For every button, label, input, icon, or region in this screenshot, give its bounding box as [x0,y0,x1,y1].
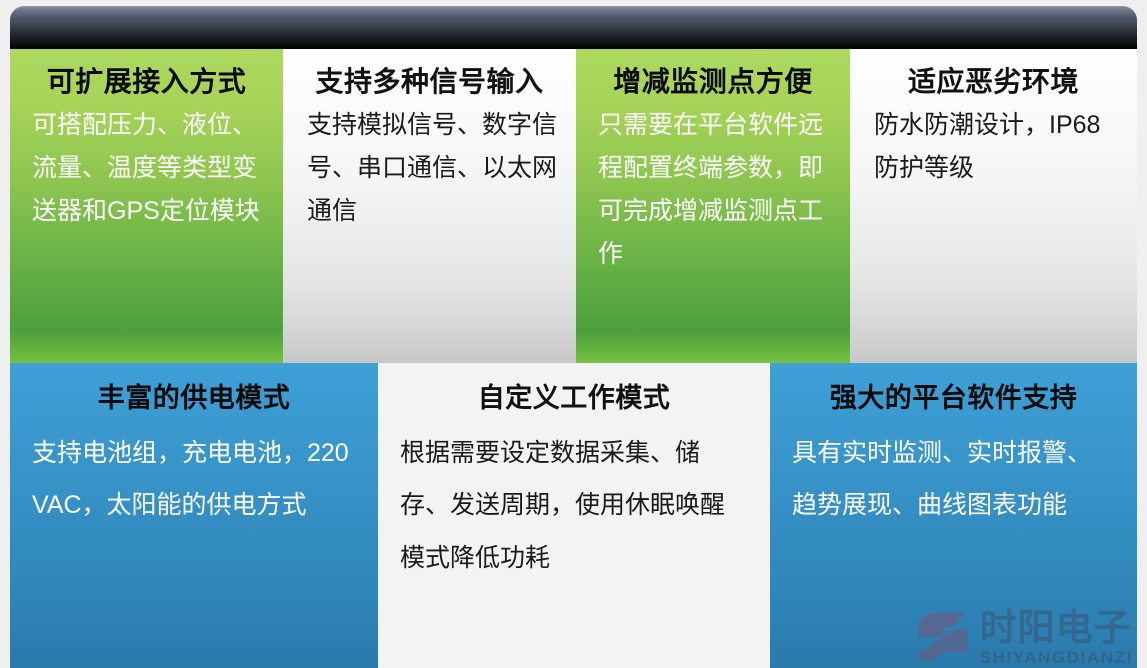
company-watermark: 时阳电子 SHIYANGDIANZI [914,608,1133,666]
feature-card-title: 可扩展接入方式 [24,65,269,98]
feature-card-body: 只需要在平台软件远程配置终端参数，即可完成增减监测点工作 [590,104,836,276]
feature-card-title: 自定义工作模式 [398,383,750,415]
feature-card-harsh-environment[interactable]: 适应恶劣环境 防水防潮设计，IP68防护等级 [850,49,1137,363]
feature-card-custom-work-mode[interactable]: 自定义工作模式 根据需要设定数据采集、储存、发送周期，使用休眠唤醒模式降低功耗 [378,363,770,668]
feature-card-body: 防水防潮设计，IP68防护等级 [864,104,1123,190]
feature-card-body: 可搭配压力、液位、流量、温度等类型变送器和GPS定位模块 [24,104,269,233]
feature-card-body: 支持电池组，充电电池，220VAC，太阳能的供电方式 [30,427,358,532]
feature-card-title: 丰富的供电模式 [30,383,358,415]
stacked-s-logo-icon [914,608,972,666]
feature-card-body: 根据需要设定数据采集、储存、发送周期，使用休眠唤醒模式降低功耗 [398,427,750,585]
feature-row-top: 可扩展接入方式 可搭配压力、液位、流量、温度等类型变送器和GPS定位模块 支持多… [10,49,1137,363]
feature-card-body: 支持模拟信号、数字信号、串口通信、以太网通信 [297,104,562,233]
feature-card-expandable-access[interactable]: 可扩展接入方式 可搭配压力、液位、流量、温度等类型变送器和GPS定位模块 [10,49,283,363]
watermark-text-block: 时阳电子 SHIYANGDIANZI [980,609,1133,666]
feature-card-signal-input[interactable]: 支持多种信号输入 支持模拟信号、数字信号、串口通信、以太网通信 [283,49,576,363]
feature-card-platform-software[interactable]: 强大的平台软件支持 具有实时监测、实时报警、趋势展现、曲线图表功能 [770,363,1137,668]
feature-card-power-modes[interactable]: 丰富的供电模式 支持电池组，充电电池，220VAC，太阳能的供电方式 [10,363,378,668]
feature-grid-stage: 可扩展接入方式 可搭配压力、液位、流量、温度等类型变送器和GPS定位模块 支持多… [0,0,1147,668]
feature-row-bottom: 丰富的供电模式 支持电池组，充电电池，220VAC，太阳能的供电方式 自定义工作… [10,363,1137,668]
watermark-company-cn: 时阳电子 [980,609,1133,646]
feature-card-body: 具有实时监测、实时报警、趋势展现、曲线图表功能 [790,427,1117,532]
feature-card-title: 增减监测点方便 [590,65,836,98]
feature-card-title: 支持多种信号输入 [297,65,562,98]
feature-card-title: 适应恶劣环境 [864,65,1123,98]
feature-card-monitor-points[interactable]: 增减监测点方便 只需要在平台软件远程配置终端参数，即可完成增减监测点工作 [576,49,850,363]
top-header-bar [10,6,1137,49]
watermark-company-en: SHIYANGDIANZI [980,649,1133,666]
feature-card-title: 强大的平台软件支持 [790,383,1117,415]
